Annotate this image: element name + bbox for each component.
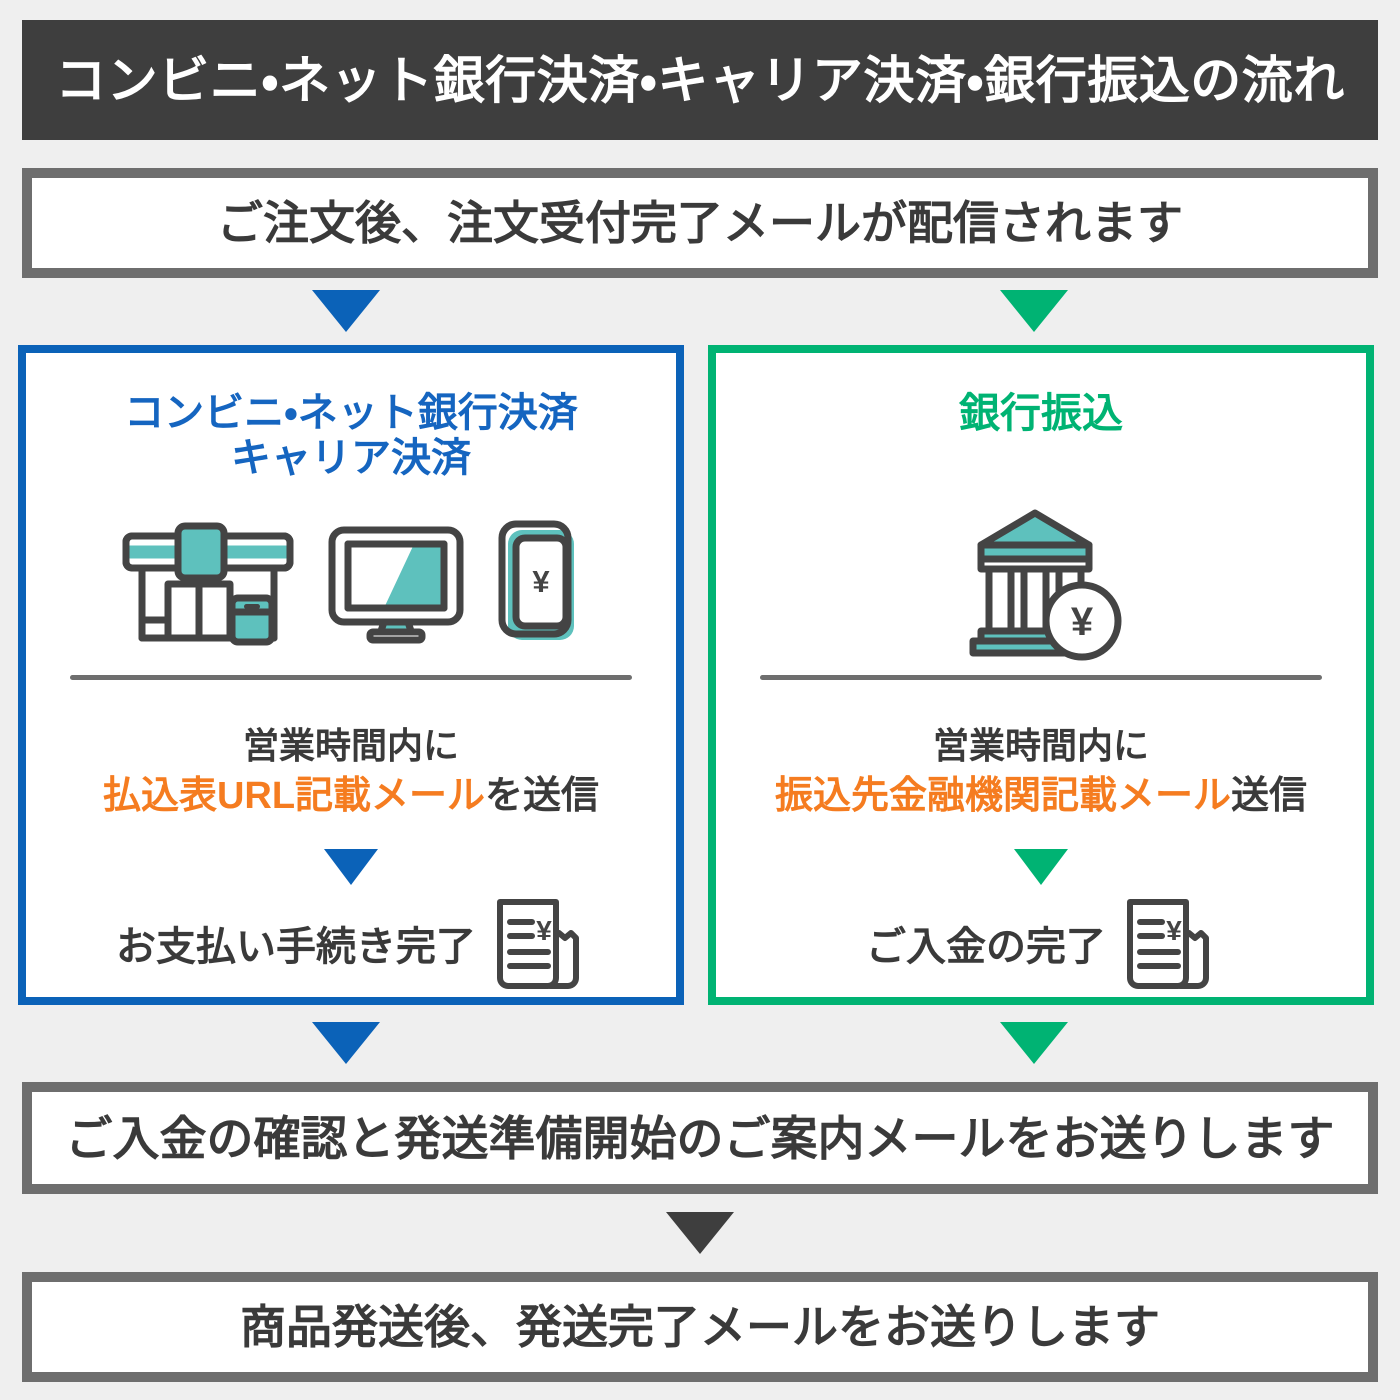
payment-flow-diagram: コンビニ・ネット銀行決済・キャリア決済・銀行振込の流れ ご注文後、注文受付完了メ… xyxy=(0,0,1400,1400)
arrow-from-convenience-panel-icon xyxy=(312,1022,380,1064)
step-payment-confirmation-label: ご入金の確認と発送準備開始のご案内メールをお送りします xyxy=(66,1115,1335,1162)
panel-bank-note-highlight: 振込先金融機関記載メール xyxy=(775,775,1231,817)
panel-convenience-divider xyxy=(70,675,632,680)
step-shipping-confirmation-label: 商品発送後、発送完了メールをお送りします xyxy=(240,1304,1160,1350)
page-title: コンビニ・ネット銀行決済・キャリア決済・銀行振込の流れ xyxy=(55,55,1345,106)
receipt-yen-icon: ¥ xyxy=(1120,894,1216,992)
panel-convenience-note-suffix: を送信 xyxy=(485,775,599,817)
step-payment-confirmation: ご入金の確認と発送準備開始のご案内メールをお送りします xyxy=(22,1082,1378,1194)
convenience-store-icon xyxy=(120,520,296,646)
arrow-bank-step-icon xyxy=(1014,849,1068,885)
panel-convenience-note-highlight: 払込表URL記載メール xyxy=(103,775,485,817)
step-order-confirmation: ご注文後、注文受付完了メールが配信されます xyxy=(22,168,1378,278)
panel-convenience-icon-row: ¥ xyxy=(26,518,676,648)
panel-convenience-result-label: お支払い手続き完了 xyxy=(116,914,476,972)
panel-bank-note-line1: 営業時間内に xyxy=(933,725,1149,766)
step-shipping-confirmation: 商品発送後、発送完了メールをお送りします xyxy=(22,1272,1378,1382)
svg-text:¥: ¥ xyxy=(1071,600,1094,644)
page-title-bar: コンビニ・ネット銀行決済・キャリア決済・銀行振込の流れ xyxy=(22,20,1378,140)
panel-convenience-note: 営業時間内に 払込表URL記載メールを送信 xyxy=(26,723,676,821)
step-order-confirmation-label: ご注文後、注文受付完了メールが配信されます xyxy=(217,200,1183,246)
desktop-monitor-icon xyxy=(326,522,466,644)
svg-text:¥: ¥ xyxy=(1166,915,1182,946)
arrow-convenience-step-icon xyxy=(324,849,378,885)
panel-convenience-title: コンビニ・ネット銀行決済 キャリア決済 xyxy=(26,391,676,481)
panel-bank-icon-row: ¥ xyxy=(716,503,1366,663)
bank-building-yen-icon: ¥ xyxy=(951,503,1131,663)
arrow-to-bank-panel-icon xyxy=(1000,290,1068,332)
panel-bank-transfer: 銀行振込 xyxy=(708,345,1374,1005)
svg-text:¥: ¥ xyxy=(532,564,550,599)
arrow-from-bank-panel-icon xyxy=(1000,1022,1068,1064)
panel-bank-divider xyxy=(760,675,1322,680)
panel-bank-note-suffix: 送信 xyxy=(1231,775,1307,817)
panel-bank-note: 営業時間内に 振込先金融機関記載メール送信 xyxy=(716,723,1366,821)
smartphone-yen-icon: ¥ xyxy=(496,520,582,646)
panel-convenience-payment: コンビニ・ネット銀行決済 キャリア決済 xyxy=(18,345,684,1005)
panel-bank-title: 銀行振込 xyxy=(716,391,1366,437)
receipt-yen-icon: ¥ xyxy=(490,894,586,992)
arrow-to-shipping-icon xyxy=(666,1212,734,1254)
panel-convenience-note-line1: 営業時間内に xyxy=(243,725,459,766)
panel-bank-result-label: ご入金の完了 xyxy=(866,914,1106,972)
panel-convenience-result-row: お支払い手続き完了 ¥ xyxy=(26,893,676,993)
panel-bank-result-row: ご入金の完了 ¥ xyxy=(716,893,1366,993)
svg-text:¥: ¥ xyxy=(536,915,552,946)
arrow-to-convenience-panel-icon xyxy=(312,290,380,332)
